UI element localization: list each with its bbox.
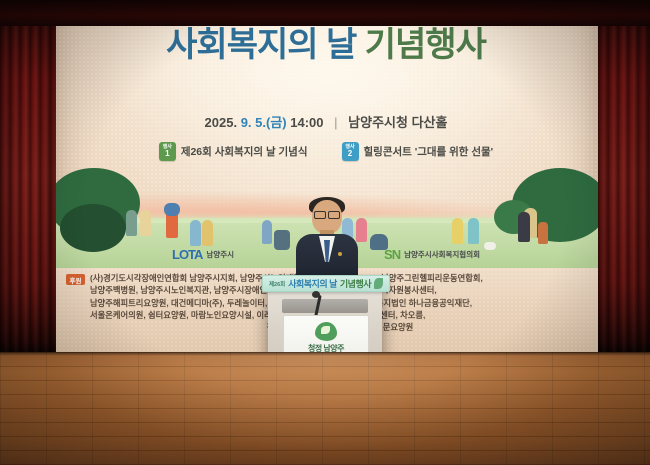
logo-label-1: 남양주시: [206, 249, 234, 260]
date-venue-separator: |: [334, 115, 337, 130]
person-figure: [262, 220, 272, 244]
person-figure: [468, 218, 479, 244]
person-figure: [140, 210, 151, 236]
stage-curtain-left: [0, 0, 56, 352]
banner-title: 사회복지의 날 기념행사: [54, 26, 598, 65]
person-figure: [164, 203, 180, 216]
venue-name: 남양주시청 다산홀: [348, 115, 447, 130]
person-figure: [518, 212, 530, 242]
date-year: 2025.: [205, 115, 238, 130]
city-logo-icon: [315, 322, 337, 341]
stage-photo: 제26회 사회복지의 날 기념행사 2025. 9. 5.(금) 14:00 |…: [0, 0, 650, 465]
banner-title-part1: 사회복지의 날: [166, 26, 356, 64]
date-time: 14:00: [290, 115, 323, 130]
sponsor-tag-badge: 후원: [66, 274, 85, 285]
podium-sign-title-green: 기념행사: [340, 277, 371, 290]
date-month: 9.: [241, 115, 252, 130]
person-figure: [452, 218, 463, 244]
stage-floor-reflection: [0, 352, 650, 465]
stage-floor-edge: [0, 352, 650, 356]
logo-mark-icon: LOTA: [172, 247, 202, 262]
stage-curtain-right: [598, 0, 650, 352]
person-figure: [538, 222, 548, 244]
banner-title-part2: 기념행사: [365, 26, 486, 64]
stage-curtain-valance: [0, 0, 650, 26]
date-day: 5.(금): [255, 115, 286, 130]
lapel-badge-icon: [338, 252, 342, 256]
banner-datetime-venue: 2025. 9. 5.(금) 14:00 | 남양주시청 다산홀: [54, 112, 598, 131]
podium-top-plate: [282, 299, 368, 313]
podium-sign-title-blue: 사회복지의 날: [288, 277, 337, 290]
podium-sign: 제26회 사회복지의 날 기념행사: [262, 275, 390, 292]
logo-namyangju-city: LOTA 남양주시: [172, 247, 234, 262]
leaf-icon: [374, 278, 383, 289]
person-figure: [126, 210, 137, 236]
podium-sign-edition: 제26회: [269, 280, 285, 288]
logo-welfare-council: SN 남양주시사회복지협의회: [384, 247, 480, 262]
logo-mark-icon-2: SN: [384, 247, 400, 262]
logo-label-2: 남양주시사회복지협의회: [404, 249, 480, 260]
glasses-icon: [314, 211, 340, 217]
